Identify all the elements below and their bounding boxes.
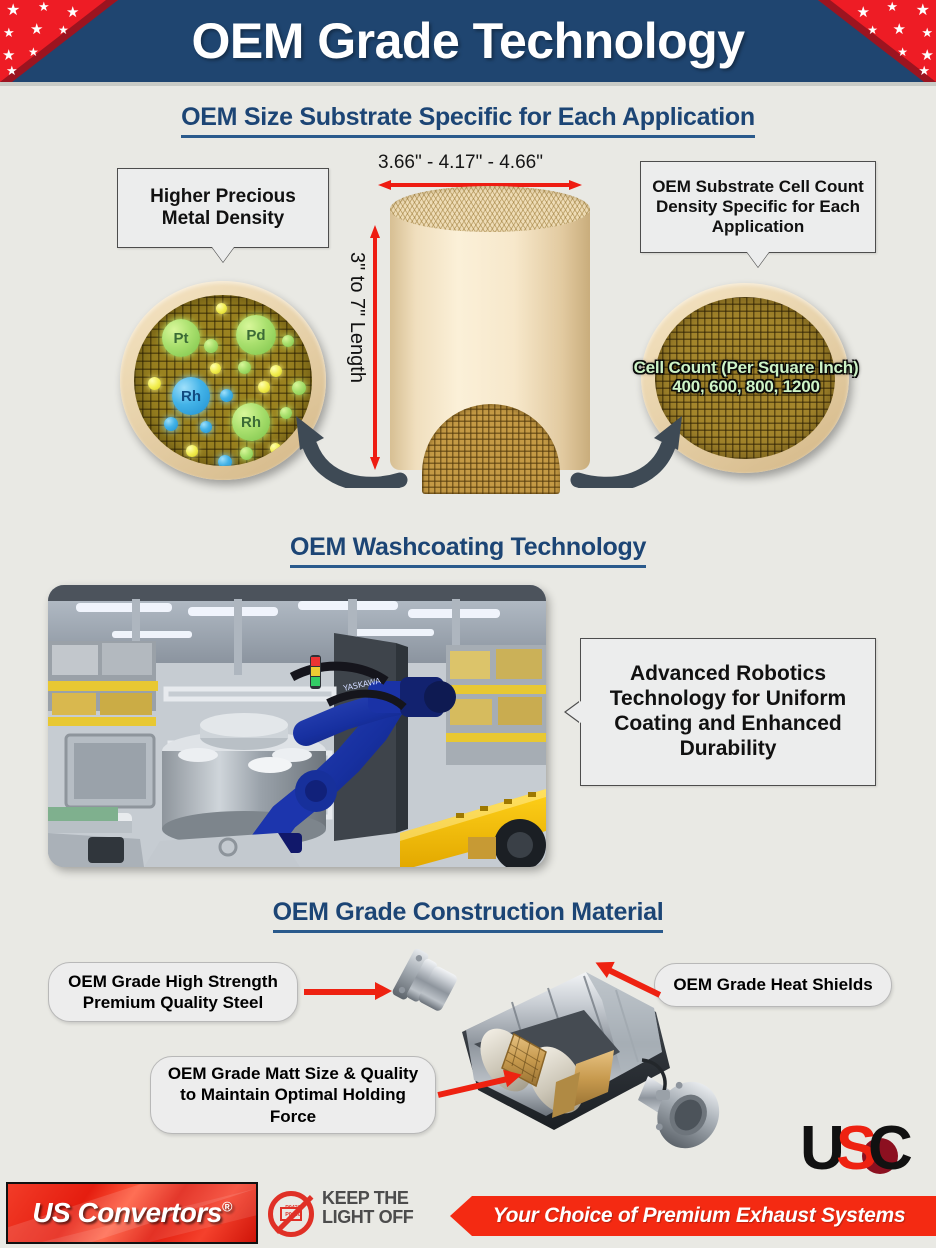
curved-arrow-left [288,398,408,488]
section-heading-substrate-text: OEM Size Substrate Specific for Each App… [181,103,755,138]
particle-small [210,363,221,374]
keep-light-off-badge: P0420 P0430 KEEP THE LIGHT OFF [268,1186,428,1240]
callout-premium-steel: OEM Grade High Strength Premium Quality … [48,962,298,1022]
particle-small [238,361,251,374]
cell-count-annotation: Cell Count (Per Square Inch) 400, 600, 8… [602,358,890,396]
precious-metal-particle-rh-blue: Rh [172,377,210,415]
keep-light-off-text: KEEP THE LIGHT OFF [322,1189,428,1228]
callout-higher-precious-metal-density: Higher Precious Metal Density [117,168,329,248]
section-heading-substrate: OEM Size Substrate Specific for Each App… [0,103,936,138]
particle-small [148,377,161,390]
dimension-width-label: 3.66" - 4.17" - 4.66" [378,152,543,174]
callout-text: OEM Grade Heat Shields [673,974,872,995]
registered-mark: ® [222,1199,232,1215]
logo-letter-c: C [868,1118,913,1180]
callout-matt-size: OEM Grade Matt Size & Quality to Maintai… [150,1056,436,1134]
particle-small [282,335,294,347]
precious-metal-particle-rh-green: Rh [232,403,270,441]
section-heading-construction-text: OEM Grade Construction Material [273,898,664,933]
washcoating-robotics-photo: YASKAWA [48,585,546,867]
honeycomb-surface: Pt Pd Rh Rh [134,295,312,466]
curved-arrow-right [570,398,690,488]
callout-text: Advanced Robotics Technology for Uniform… [589,662,867,761]
dimension-length-label: 3" to 7" Length [345,252,368,383]
arrow-head-icon [503,1066,524,1087]
precious-metal-particle-pd: Pd [236,315,276,355]
keep-line-1: KEEP THE [322,1189,428,1208]
page-title: OEM Grade Technology [0,0,936,82]
section-heading-construction: OEM Grade Construction Material [0,898,936,933]
particle-label: Pd [246,327,265,344]
callout-text: OEM Substrate Cell Count Density Specifi… [649,177,867,237]
particle-small [292,381,306,395]
callout-text: OEM Grade Matt Size & Quality to Maintai… [161,1063,425,1127]
section-heading-washcoating: OEM Washcoating Technology [0,533,936,568]
cell-count-values: 400, 600, 800, 1200 [602,377,890,396]
arrow-head-icon [375,982,392,1000]
substrate-cylinder [390,186,590,494]
callout-tail [212,247,234,262]
particle-small [240,447,253,460]
cell-count-title: Cell Count (Per Square Inch) [602,358,890,377]
page-header: ★ ★ ★ ★ ★ ★ ★ ★ ★ OEM Grade Technology ★… [0,0,936,82]
arrow-shaft [304,989,377,995]
particle-small [258,381,270,393]
section-heading-washcoating-text: OEM Washcoating Technology [290,533,646,568]
particle-small [270,443,281,454]
particle-small [218,455,232,466]
usc-logo: U S C [800,1118,922,1180]
precious-metal-particle-pt: Pt [162,319,200,357]
callout-advanced-robotics: Advanced Robotics Technology for Uniform… [580,638,876,786]
callout-cell-count-density: OEM Substrate Cell Count Density Specifi… [640,161,876,253]
footer-tagline-banner: Your Choice of Premium Exhaust Systems [450,1196,936,1236]
us-convertors-logo-box[interactable]: US Convertors® [6,1182,258,1244]
particle-label: Rh [181,388,201,405]
callout-text: OEM Grade High Strength Premium Quality … [59,971,287,1014]
brand-name: US Convertors® [32,1197,231,1229]
particle-label: Rh [241,414,261,431]
footer-tagline-text: Your Choice of Premium Exhaust Systems [481,1204,906,1228]
particle-small [200,421,212,433]
particle-small [216,303,227,314]
cylinder-top-face-honeycomb [390,186,590,232]
particle-label: Pt [174,330,189,347]
particle-small [164,417,178,431]
particle-small [270,365,282,377]
prohibition-icon: P0420 P0430 [268,1191,314,1237]
particle-small [220,389,233,402]
photo-illustration: YASKAWA [48,585,546,867]
brand-name-text: US Convertors [32,1197,222,1228]
header-underline [0,82,936,86]
particle-small [186,445,198,457]
callout-text: Higher Precious Metal Density [126,186,320,231]
arrow-to-steel [304,987,392,996]
callout-tail [566,701,581,723]
callout-heat-shields: OEM Grade Heat Shields [654,963,892,1007]
callout-tail [747,252,769,267]
particle-small [204,339,218,353]
keep-line-2: LIGHT OFF [322,1208,428,1227]
